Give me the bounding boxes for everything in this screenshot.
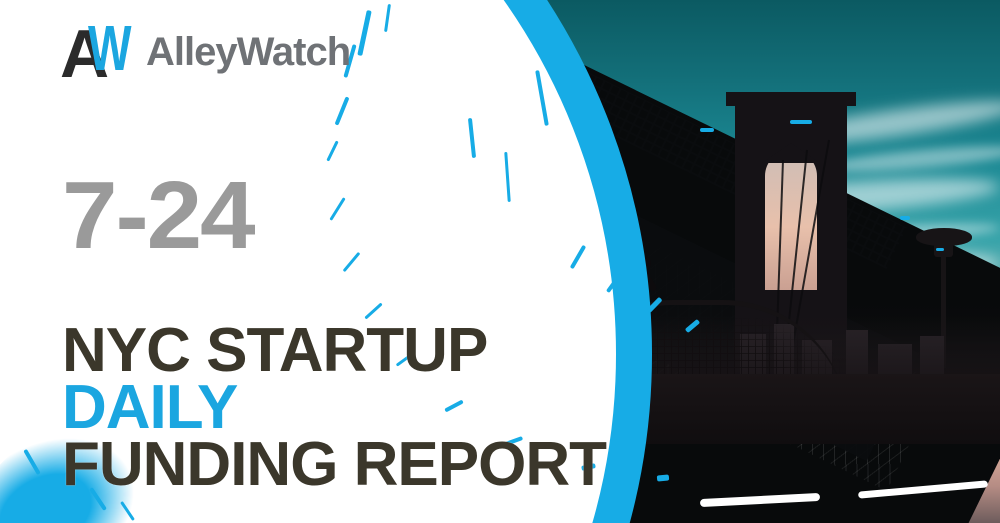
alleywatch-logo-mark: A W [60, 22, 138, 82]
headline-line-2: DAILY [62, 379, 606, 436]
report-date: 7-24 [62, 168, 254, 264]
headline-line-3: FUNDING REPORT [62, 436, 606, 493]
headline-line-1: NYC STARTUP [62, 322, 606, 379]
funding-report-banner: A W AlleyWatch 7-24 NYC STARTUP DAILY FU… [0, 0, 1000, 523]
headline-block: NYC STARTUP DAILY FUNDING REPORT [62, 322, 606, 493]
alleywatch-wordmark: AlleyWatch [146, 30, 350, 75]
alleywatch-logo[interactable]: A W AlleyWatch [60, 20, 350, 84]
text-layer: A W AlleyWatch 7-24 NYC STARTUP DAILY FU… [0, 0, 1000, 523]
logo-letter-w-icon: W [88, 18, 131, 78]
